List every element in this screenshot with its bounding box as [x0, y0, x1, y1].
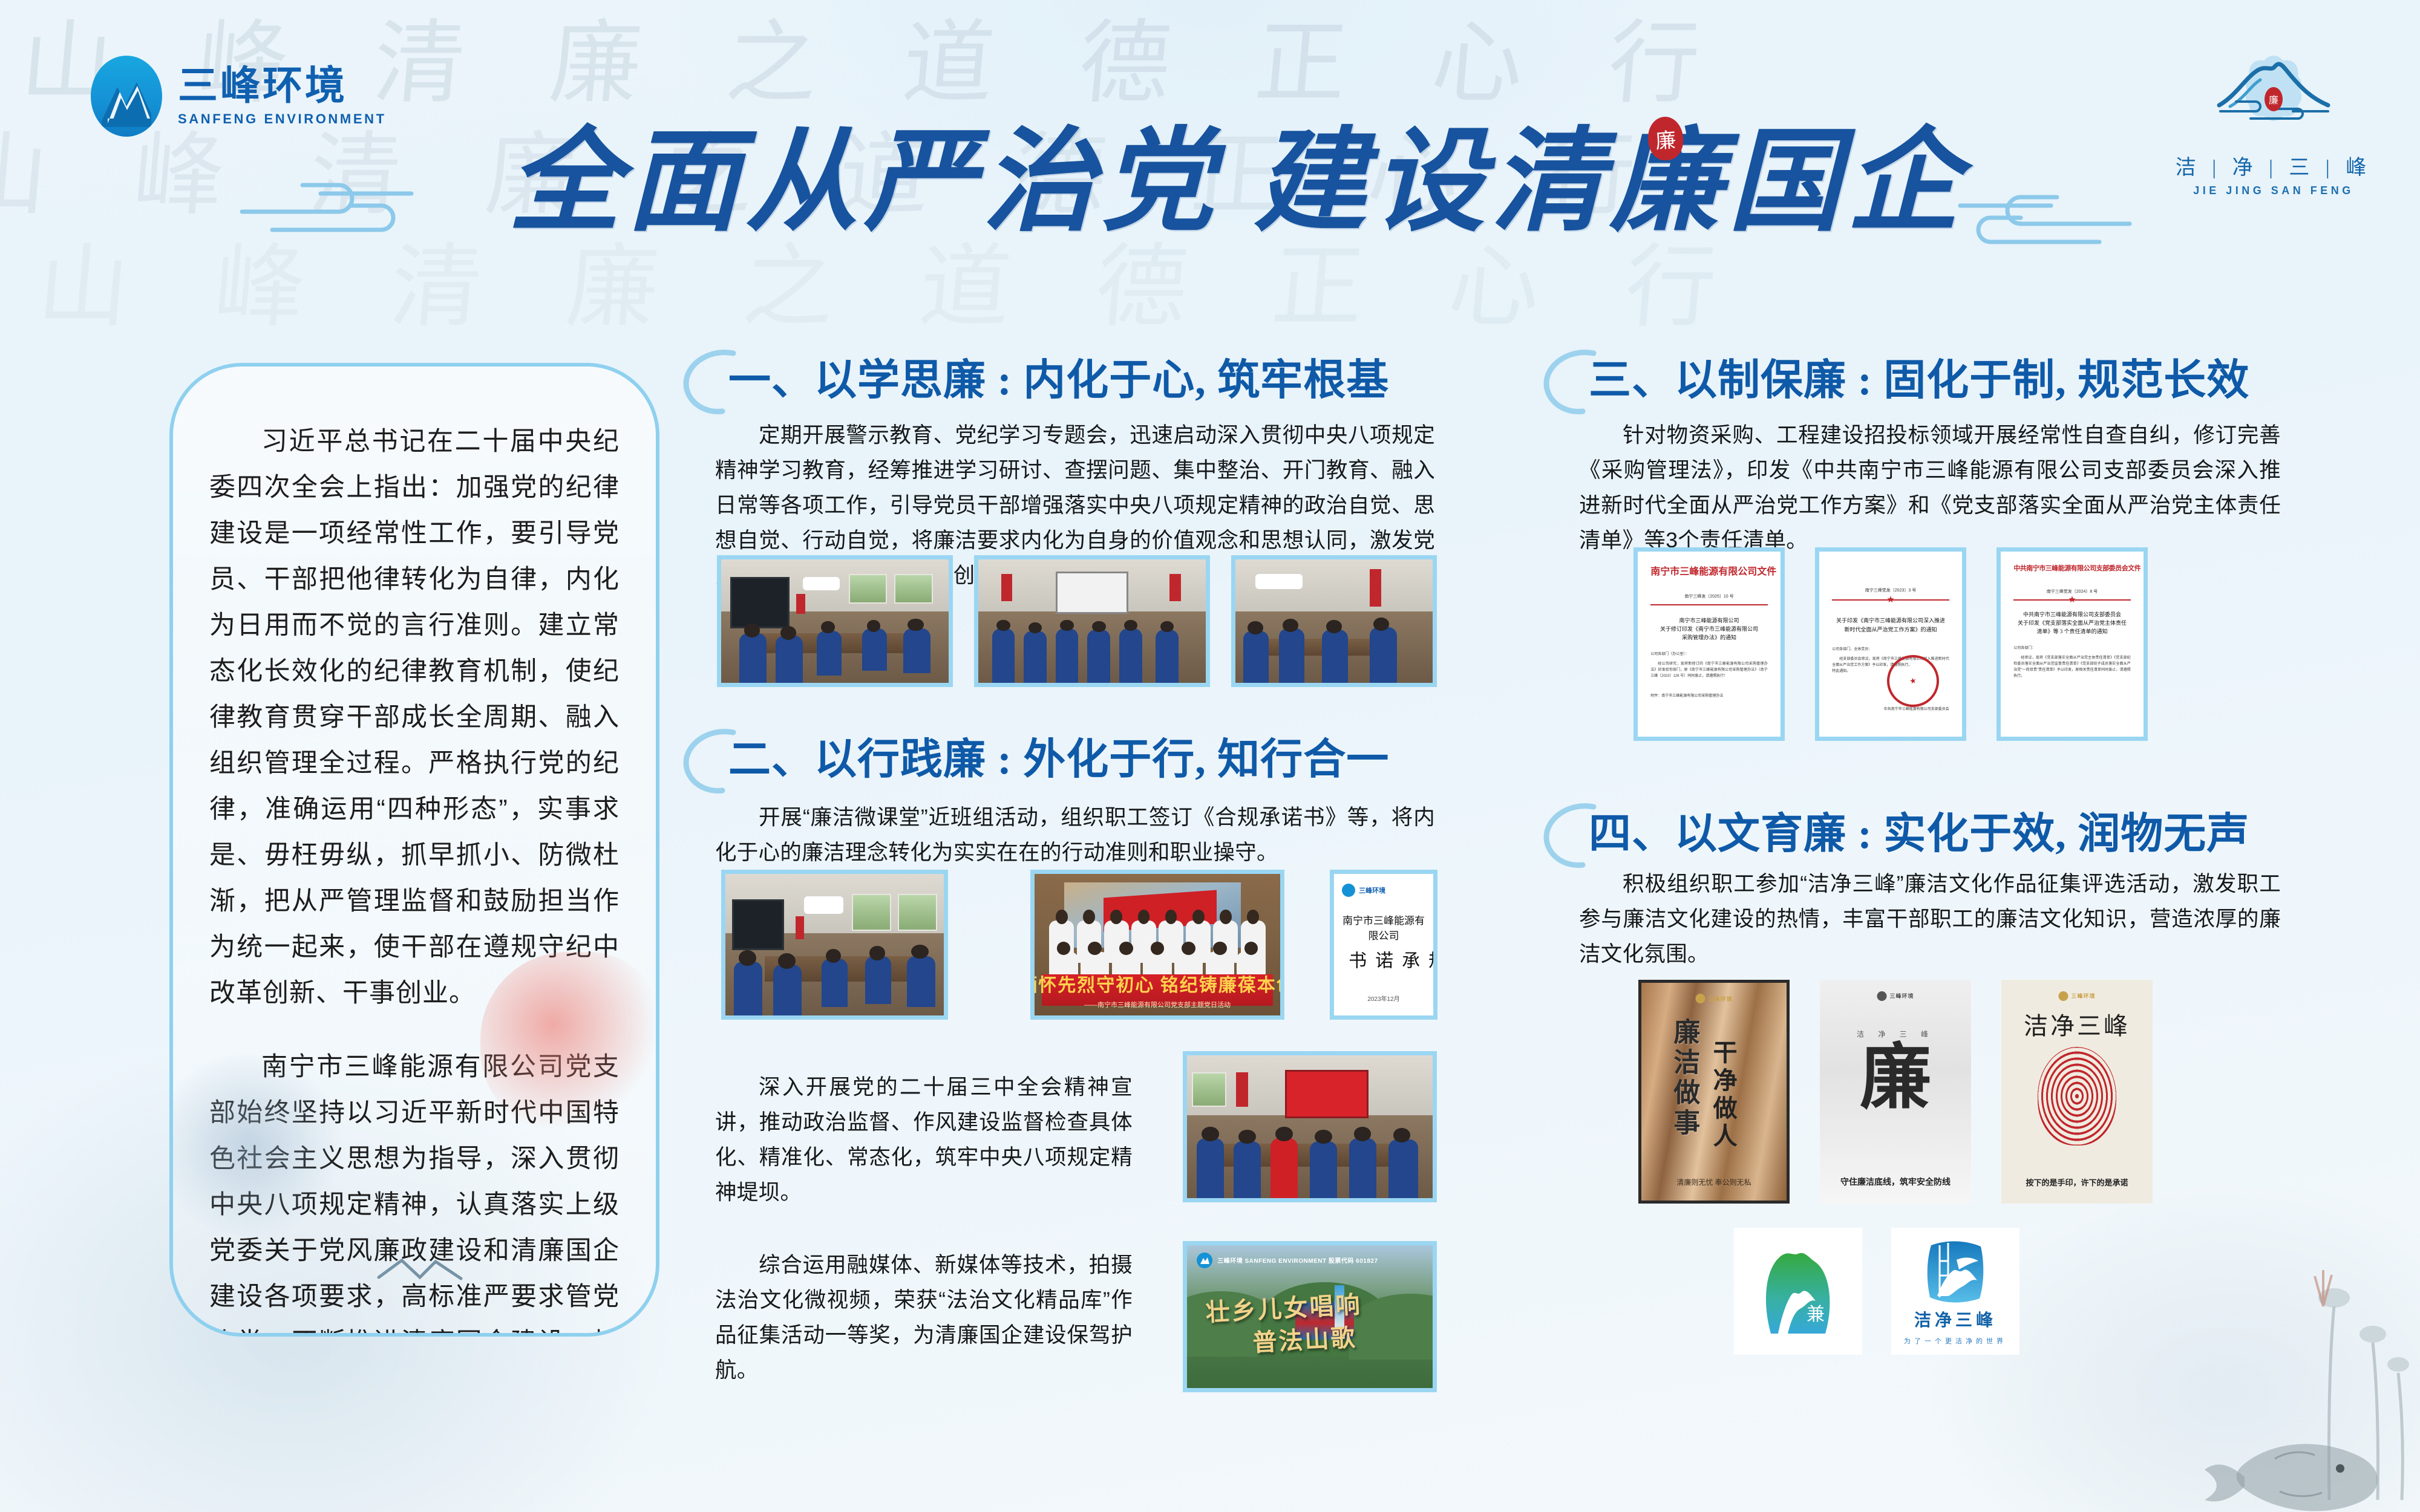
badge-jiejing-sanfeng[interactable]: 洁净三峰 为了一个更洁净的世界	[1891, 1228, 2019, 1355]
doc3-recipient: 公司各部门：	[2013, 645, 2131, 651]
poster3-logo: 三峰环境	[2058, 991, 2095, 1001]
doc1-number: 南宁三峰发〔2025〕10 号	[1650, 593, 1768, 599]
photo-party-discipline-study[interactable]	[974, 555, 1210, 687]
poster2-logo: 三峰环境	[1877, 991, 1914, 1001]
section-one-heading-text: 一、以学思廉 : 内化于心, 筑牢根基	[728, 360, 1389, 402]
poster3-title: 洁净三峰	[2001, 1006, 2153, 1041]
watercolor-blue-decoration	[169, 1055, 348, 1236]
svg-text:廉: 廉	[2269, 95, 2278, 106]
mountain-wave-logo-icon	[91, 56, 162, 137]
bamboo-mountain-logo-icon	[1921, 1237, 1989, 1307]
video-watermark-logo: 三峰环境 SANFENG ENVIRONMENT 股票代码 601827	[1197, 1253, 1378, 1268]
doc2-recipient: 公司各部门、全体党员：	[1832, 647, 1949, 653]
section-three-body: 针对物资采购、工程建设招投标领域开展经常性自查自纠，修订完善《采购管理法》，印发…	[1579, 417, 2281, 558]
poster2-character: 廉	[1860, 1043, 1931, 1114]
section-four-heading: 四、以文育廉 : 实化于效, 润物无声	[1555, 797, 2249, 872]
section-two-body-2: 深入开展党的二十届三中全会精神宣讲，推动政治监督、作风建设监督检查具体化、精准化…	[715, 1069, 1133, 1210]
section-two-heading: 二、以行践廉 : 外化于行, 知行合一	[695, 723, 1389, 798]
doc1-attachment: 附件：南宁市三峰能源有限公司采购管理办法	[1650, 692, 1768, 698]
photo-plenum-briefing[interactable]	[1183, 1051, 1437, 1202]
company-logo-en: SANFENG ENVIRONMENT	[178, 111, 387, 127]
section-four-heading-text: 四、以文育廉 : 实化于效, 润物无声	[1589, 813, 2249, 856]
badge-jiejing-cn: 洁净三峰	[1914, 1307, 1996, 1331]
poster-root: 山 峰 清 廉 之 道 德 正 心 行 山 峰 清 廉 之 道 德 正 心 行 …	[0, 0, 2420, 1512]
company-logo: 三峰环境 SANFENG ENVIRONMENT	[91, 56, 387, 137]
poster3-footer: 按下的是手印，许下的是承诺	[2001, 1176, 2153, 1188]
brand-logo-cn: 洁 | 净 | 三 | 峰	[2165, 151, 2382, 180]
poster1-footer: 清廉则无忧 奉公则无私	[1641, 1177, 1787, 1187]
company-logo-cn: 三峰环境	[178, 65, 387, 105]
doc3-red-header: 中共南宁市三峰能源有限公司支部委员会文件	[2013, 563, 2131, 573]
document-responsibility-lists[interactable]: 中共南宁市三峰能源有限公司支部委员会文件 南宁三峰党发〔2024〕8 号 ★ 中…	[1996, 547, 2148, 741]
pledge-company: 南宁市三峰能源有限公司	[1342, 912, 1425, 942]
poster2-footer: 守住廉洁底线，筑牢安全防线	[1820, 1176, 1971, 1188]
red-star-icon: ★	[2068, 595, 2076, 604]
poster1-logo: 三峰环境	[1695, 994, 1732, 1003]
pledge-logo: 三峰环境	[1342, 884, 1425, 897]
section-three-heading: 三、以制保廉 : 固化于制, 规范长效	[1555, 344, 2249, 419]
photo-group-study-session[interactable]	[1231, 555, 1437, 687]
photo-compliance-pledge[interactable]: 三峰环境 南宁市三峰能源有限公司 合规承诺书 2023年12月	[1330, 870, 1437, 1020]
doc1-red-header: 南宁市三峰能源有限公司文件	[1650, 563, 1768, 578]
video-watermark-text: 三峰环境 SANFENG ENVIRONMENT 股票代码 601827	[1217, 1256, 1378, 1265]
sanfeng-dot-icon	[2058, 991, 2068, 1001]
pledge-logo-name: 三峰环境	[1359, 885, 1385, 895]
banner-sub-text: ——南宁市三峰能源有限公司党支部主题党日活动	[1084, 1000, 1231, 1009]
poster3-logo-name: 三峰环境	[2071, 992, 2095, 1000]
red-star-icon: ★	[1886, 595, 1894, 604]
doc2-title: 关于印发《南宁市三峰能源有限公司深入推进 新时代全面从严治党工作方案》的通知	[1832, 616, 1949, 634]
section-two-heading-text: 二、以行践廉 : 外化于行, 知行合一	[728, 739, 1389, 781]
doc2-signer: 中共南宁市三峰能源有限公司支部委员会	[1832, 706, 1949, 711]
section-three-heading-text: 三、以制保廉 : 固化于制, 规范长效	[1589, 360, 2249, 402]
svg-text:兼: 兼	[1807, 1305, 1825, 1325]
poster1-main-line1: 廉洁做事	[1664, 1018, 1703, 1139]
page-title-text: 全面从严治党 建设清廉国企	[508, 106, 1791, 260]
banner-main-text: 缅怀先烈守初心 铭纪铸廉葆本色	[1030, 970, 1284, 997]
photo-memorial-group[interactable]: 缅怀先烈守初心 铭纪铸廉葆本色 ——南宁市三峰能源有限公司党支部主题党日活动	[1030, 870, 1284, 1020]
intro-paragraph-1: 习近平总书记在二十届中央纪委四次全会上指出：加强党的纪律建设是一项经常性工作，要…	[209, 419, 620, 1016]
doc3-title: 中共南宁市三峰能源有限公司支部委员会 关于印发《党支部落实全面从严治党主体责任 …	[2013, 610, 2131, 636]
sanfeng-dot-icon	[1342, 884, 1355, 897]
video-title-line1: 壮乡儿女唱响	[1205, 1291, 1362, 1326]
photo-warning-education-meeting[interactable]	[717, 555, 953, 687]
brand-logo-jiejing: 廉 洁 | 净 | 三 | 峰 JIE JING SAN FENG	[2165, 53, 2382, 197]
section-two-body: 开展“廉洁微课堂”近班组活动，组织职工签订《合规承诺书》等，将内化于心的廉洁理念…	[715, 800, 1435, 870]
poster2-logo-name: 三峰环境	[1889, 992, 1914, 1000]
intro-panel: 习近平总书记在二十届中央纪委四次全会上指出：加强党的纪律建设是一项经常性工作，要…	[169, 363, 659, 1337]
culture-poster-fingerprint[interactable]: 三峰环境 洁净三峰 按下的是手印，许下的是承诺	[2001, 980, 2153, 1204]
doc2-number: 南宁三峰党发〔2023〕3 号	[1832, 587, 1949, 593]
pledge-date: 2023年12月	[1334, 994, 1433, 1003]
culture-poster-clean-work[interactable]: 三峰环境 廉洁做事 干净做人 清廉则无忧 奉公则无私	[1638, 980, 1790, 1204]
bird-ornament-icon	[373, 1253, 482, 1289]
watercolor-red-decoration	[480, 952, 659, 1133]
brand-logo-en: JIE JING SAN FENG	[2165, 184, 2382, 197]
doc1-title: 南宁市三峰能源有限公司 关于修订印发《南宁市三峰能源有限公司 采购管理办法》的通…	[1650, 616, 1768, 642]
badge-mountain-jian[interactable]: 兼	[1734, 1228, 1862, 1355]
document-procurement-measures[interactable]: 南宁市三峰能源有限公司文件 南宁三峰发〔2025〕10 号 南宁市三峰能源有限公…	[1633, 547, 1785, 741]
poster1-logo-name: 三峰环境	[1708, 995, 1732, 1003]
sanfeng-dot-icon	[1695, 994, 1705, 1003]
culture-poster-lian-character[interactable]: 三峰环境 洁 净 三 峰 廉 守住廉洁底线，筑牢安全防线	[1820, 980, 1971, 1204]
fingerprint-icon	[2038, 1047, 2116, 1145]
lotus-mountain-logo-icon: 廉	[2183, 53, 2364, 144]
page-title: 全面从严治党 建设清廉国企 廉	[508, 106, 1791, 269]
photo-banner: 缅怀先烈守初心 铭纪铸廉葆本色 ——南宁市三峰能源有限公司党支部主题党日活动	[1042, 974, 1273, 1005]
video-title: 壮乡儿女唱响 普法山歌	[1205, 1286, 1414, 1362]
doc3-body: 经审议，现将《党支部落实全面从严治党主体责任清单》《党支部纪检委员落实全面从严治…	[2013, 655, 2131, 679]
poster1-main-line2: 干净做人	[1705, 1040, 1741, 1151]
green-mountain-logo-icon: 兼	[1753, 1243, 1843, 1340]
photo-legal-culture-video[interactable]: 三峰环境 SANFENG ENVIRONMENT 股票代码 601827 壮乡儿…	[1183, 1241, 1437, 1392]
cloud-ornament-left	[230, 169, 496, 242]
section-four-body: 积极组织职工参加“洁净三峰”廉洁文化作品征集评选活动，激发职工参与廉洁文化建设的…	[1579, 866, 2281, 971]
doc1-body: 经公司研究，现将新修订的《南宁市三峰能源有限公司采购管理办法》印发给你部门，原《…	[1650, 661, 1768, 679]
photo-micro-class[interactable]	[721, 870, 948, 1020]
section-one-heading: 一、以学思廉 : 内化于心, 筑牢根基	[695, 344, 1389, 419]
doc3-number: 南宁三峰党发〔2024〕8 号	[2013, 588, 2131, 595]
document-strict-governance-plan[interactable]: 南宁三峰党发〔2023〕3 号 ★ 关于印发《南宁市三峰能源有限公司深入推进 新…	[1815, 547, 1966, 741]
doc1-recipient: 公司各部门（办公室）：	[1650, 651, 1768, 657]
section-two-body-3: 综合运用融媒体、新媒体等技术，拍摄法治文化微视频，荣获“法治文化精品库”作品征集…	[715, 1247, 1133, 1387]
badge-jiejing-slogan: 为了一个更洁净的世界	[1904, 1336, 2007, 1346]
sanfeng-dot-icon	[1877, 991, 1886, 1001]
